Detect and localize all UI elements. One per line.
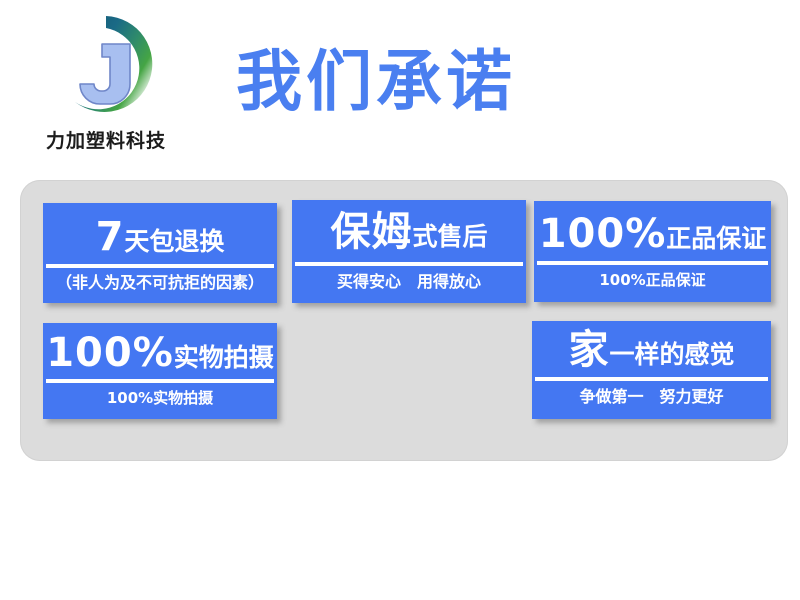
brand-logo: 力加塑料科技 (26, 14, 186, 154)
promise-card-after-sales[interactable]: 保姆 式售后 买得安心 用得放心 (292, 200, 526, 303)
card-title: 保姆 式售后 (292, 210, 526, 254)
card-title-rest: 实物拍摄 (174, 343, 274, 373)
card-title-emphasis: 100% (539, 212, 667, 256)
promise-card-7day-return[interactable]: 7 天包退换 （非人为及不可抗拒的因素） (43, 203, 277, 303)
card-subtitle: 争做第一 努力更好 (532, 387, 771, 407)
promise-panel: 7 天包退换 （非人为及不可抗拒的因素） 保姆 式售后 买得安心 用得放心 10… (20, 180, 788, 461)
card-title-rest: 正品保证 (666, 224, 766, 254)
promise-card-grid: 7 天包退换 （非人为及不可抗拒的因素） 保姆 式售后 买得安心 用得放心 10… (20, 180, 788, 461)
promise-card-home-feeling[interactable]: 家 一样的感觉 争做第一 努力更好 (532, 321, 771, 419)
card-title-emphasis: 家 (568, 328, 609, 372)
page-title: 我们承诺 (236, 46, 516, 118)
card-title-rest: 一样的感觉 (609, 340, 734, 370)
card-title-rest: 天包退换 (124, 227, 224, 257)
card-divider (295, 262, 523, 266)
card-title-emphasis: 7 (96, 215, 125, 259)
promise-card-genuine-guarantee[interactable]: 100% 正品保证 100%正品保证 (534, 201, 771, 302)
card-subtitle: 100%实物拍摄 (43, 388, 277, 408)
card-title: 100% 正品保证 (534, 212, 771, 256)
card-divider (46, 264, 274, 268)
card-title-rest: 式售后 (412, 222, 487, 252)
promise-card-real-photos[interactable]: 100% 实物拍摄 100%实物拍摄 (43, 323, 277, 419)
card-title: 7 天包退换 (43, 215, 277, 259)
card-divider (535, 377, 768, 381)
card-subtitle: （非人为及不可抗拒的因素） (43, 273, 277, 293)
card-title: 家 一样的感觉 (532, 328, 771, 372)
page-header: 力加塑料科技 我们承诺 (0, 0, 800, 168)
card-title: 100% 实物拍摄 (43, 331, 277, 375)
card-divider (46, 379, 274, 383)
brand-name: 力加塑料科技 (26, 126, 186, 153)
card-subtitle: 买得安心 用得放心 (292, 272, 526, 292)
card-title-emphasis: 100% (46, 331, 174, 375)
card-divider (537, 261, 768, 265)
card-title-emphasis: 保姆 (330, 210, 412, 254)
crescent-arc-logo-icon (47, 14, 165, 116)
card-subtitle: 100%正品保证 (534, 270, 771, 290)
